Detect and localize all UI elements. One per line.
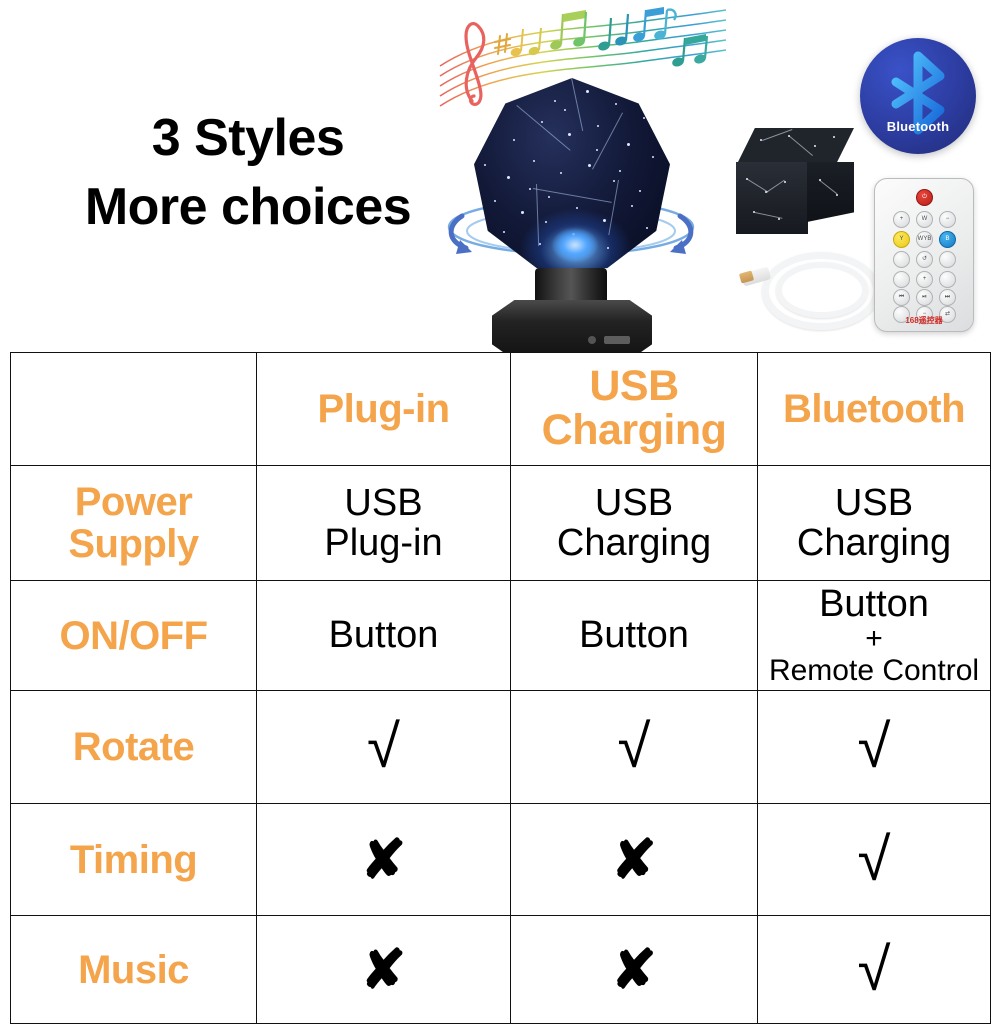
cross-mark-icon: ✘ [261,833,506,887]
lamp-base [492,300,652,360]
comparison-table: Plug-in USB Charging Bluetooth Power Sup… [10,352,991,1024]
cell-timing-plug-in: ✘ [257,804,511,916]
headline-line-2: More choices [48,173,448,242]
bluetooth-badge-label: Bluetooth [860,119,976,134]
row-label-rotate: Rotate [11,691,257,804]
column-header-bluetooth: Bluetooth [758,353,991,466]
cell-music-bluetooth: √ [758,916,991,1024]
check-mark-icon: √ [762,830,986,890]
row-label-on-off: ON/OFF [11,581,257,691]
remote-timer-60-button[interactable] [939,271,956,288]
cell-on-off-usb-charging: Button [511,581,758,691]
remote-blue-button[interactable]: B [939,231,956,248]
box-front-face [736,162,808,234]
table-row-timing: Timing ✘ ✘ √ [11,804,991,916]
check-mark-icon: √ [515,717,753,777]
table-row-power-supply: Power Supply USB Plug-in USB Charging US… [11,466,991,581]
table-header-row: Plug-in USB Charging Bluetooth [11,353,991,466]
remote-film-button[interactable] [939,251,956,268]
remote-timer-30-button[interactable] [893,271,910,288]
cross-mark-icon: ✘ [515,833,753,887]
table-row-music: Music ✘ ✘ √ [11,916,991,1024]
remote-model-label: 168遥控器 [875,315,973,326]
row-label-music: Music [11,916,257,1024]
hero-banner: 3 Styles More choices [0,0,1000,352]
remote-mode-button[interactable] [893,251,910,268]
remote-previous-button[interactable]: ⏮ [893,289,910,306]
box-side-face [807,162,854,222]
headline-line-1: 3 Styles [48,104,448,173]
cell-on-off-plug-in: Button [257,581,511,691]
cell-power-supply-bluetooth: USB Charging [758,466,991,581]
remote-volume-up-button[interactable]: + [916,271,933,288]
cross-mark-icon: ✘ [261,943,506,997]
remote-yellow-button[interactable]: Y [893,231,910,248]
cross-mark-icon: ✘ [515,943,753,997]
remote-next-button[interactable]: ⏭ [939,289,956,306]
cell-rotate-bluetooth: √ [758,691,991,804]
remote-plus-button[interactable]: + [893,211,910,228]
power-button [588,336,596,344]
remote-play-pause-button[interactable]: ⏯ [916,289,933,306]
cell-power-supply-plug-in: USB Plug-in [257,466,511,581]
constellation-gift-box [736,128,858,236]
headline: 3 Styles More choices [48,104,448,242]
star-projector-lamp [440,72,702,354]
lamp-light-glow [552,228,598,262]
row-label-power-supply: Power Supply [11,466,257,581]
usb-charging-cable [740,244,880,328]
remote-w-button[interactable]: W [916,211,933,228]
table-row-on-off: ON/OFF Button Button Button + Remote Con… [11,581,991,691]
box-lid [736,128,854,166]
check-mark-icon: √ [762,940,986,1000]
remote-wyb-button[interactable]: WYB [916,231,933,248]
bluetooth-badge: Bluetooth [860,38,976,154]
table-row-rotate: Rotate √ √ √ [11,691,991,804]
remote-power-button[interactable]: ⏻ [916,189,933,206]
cell-on-off-bluetooth: Button + Remote Control [758,581,991,691]
cell-music-plug-in: ✘ [257,916,511,1024]
cell-power-supply-usb-charging: USB Charging [511,466,758,581]
column-header-usb-charging: USB Charging [511,353,758,466]
cell-rotate-plug-in: √ [257,691,511,804]
cell-timing-bluetooth: √ [758,804,991,916]
remote-minus-button[interactable]: − [939,211,956,228]
check-mark-icon: √ [261,717,506,777]
cell-music-usb-charging: ✘ [511,916,758,1024]
cell-timing-usb-charging: ✘ [511,804,758,916]
check-mark-icon: √ [762,717,986,777]
table-corner-cell [11,353,257,466]
cell-rotate-usb-charging: √ [511,691,758,804]
usb-port [604,336,630,344]
bluetooth-icon [860,38,976,154]
column-header-plug-in: Plug-in [257,353,511,466]
row-label-timing: Timing [11,804,257,916]
remote-rotate-button[interactable]: ↺ [916,251,933,268]
ir-remote-control: ⏻ + W − Y WYB B ↺ + ⏮ ⏯ ⏭ − ⇄ 168遥控器 [874,178,974,332]
